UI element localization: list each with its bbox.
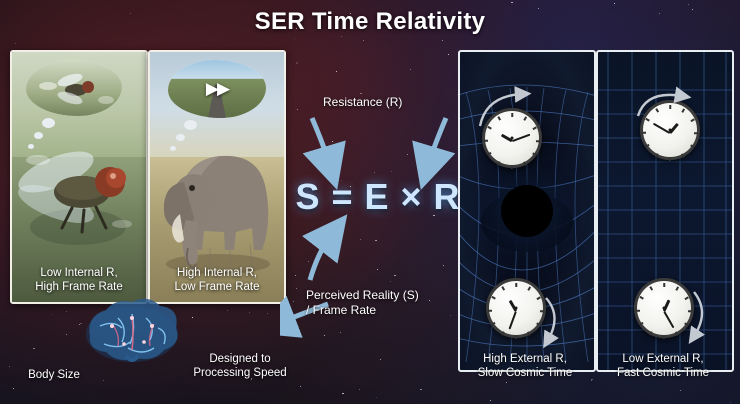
arrow-perceived-up (310, 234, 332, 280)
arrow-resistance-right (428, 118, 446, 166)
elephant-caption: High Internal R, Low Frame Rate (150, 266, 284, 294)
panel-blackhole (458, 50, 596, 372)
page-title: SER Time Relativity (0, 8, 740, 36)
label-perceived-reality: Perceived Reality (S) / Frame Rate (306, 288, 419, 318)
clock-rotation-arrows-flat (598, 52, 732, 370)
fly-illustration (12, 52, 146, 302)
label-resistance: Resistance (R) (323, 95, 402, 110)
equation-text: S = E × R (292, 176, 464, 218)
diagram-canvas: SER Time Relativity (0, 0, 740, 404)
clock-rotation-arrows-bh (460, 52, 594, 370)
arrow-resistance-left (312, 118, 330, 166)
flatspace-caption: Low External R, Fast Cosmic Time (596, 352, 730, 380)
panel-flatspace (596, 50, 734, 372)
panel-elephant: ▶▶ High Internal R, Low Frame Rate (148, 50, 286, 304)
fly-caption: Low Internal R, High Frame Rate (12, 266, 146, 294)
brain-caption-body-size: Body Size (14, 368, 94, 382)
elephant-illustration (150, 52, 284, 302)
panel-fly: Low Internal R, High Frame Rate (10, 50, 148, 304)
brain-caption-processing: Designed to Processing Speed (170, 352, 310, 380)
blackhole-caption: High External R, Slow Cosmic Time (458, 352, 592, 380)
